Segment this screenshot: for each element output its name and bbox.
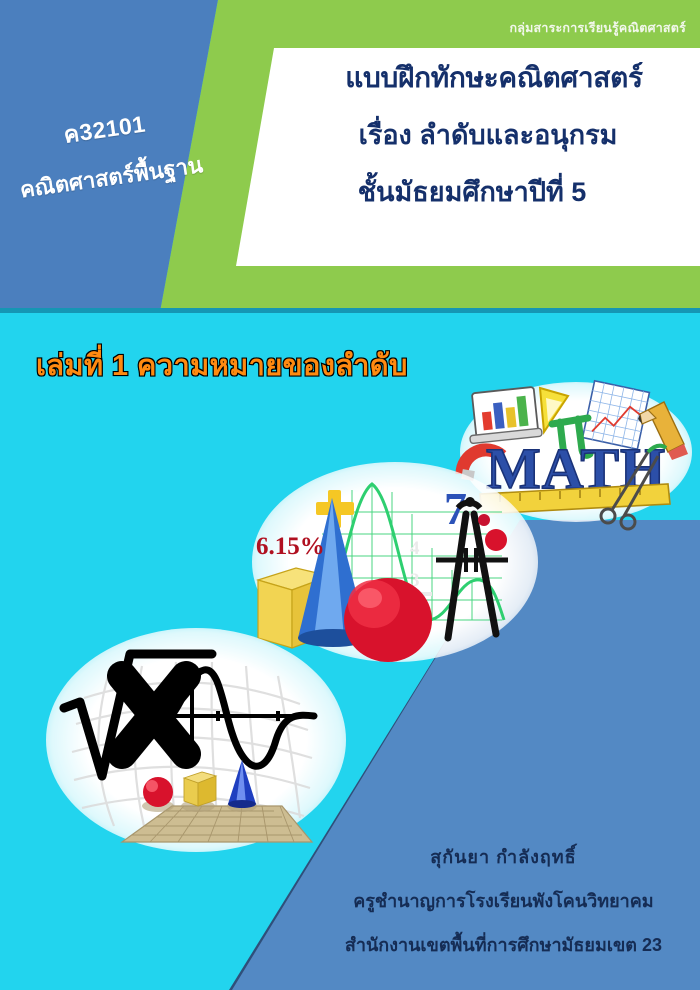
main-title-block: แบบฝึกทักษะคณิตศาสตร์ เรื่อง ลำดับและอนุ… xyxy=(300,52,688,206)
percent-label: 6.15% xyxy=(256,533,325,560)
svg-text:4: 4 xyxy=(410,538,420,559)
title-line-1: แบบฝึกทักษะคณิตศาสตร์ xyxy=(300,64,688,92)
author-block: สุกันยา กำลังฤทธิ์ ครูชำนาญการโรงเรียนพั… xyxy=(345,848,662,954)
author-name: สุกันยา กำลังฤทธิ์ xyxy=(345,848,662,866)
teal-divider-rule xyxy=(0,308,700,313)
title-line-2: เรื่อง ลำดับและอนุกรม xyxy=(288,122,688,149)
department-label: กลุ่มสาระการเรียนรู้คณิตศาสตร์ xyxy=(509,18,686,38)
cube-icon xyxy=(184,772,216,806)
sphere-icon xyxy=(344,578,432,662)
workbook-cover: กลุ่มสาระการเรียนรู้คณิตศาสตร์ ค32101 คณ… xyxy=(0,0,700,990)
author-office: สำนักงานเขตพื้นที่การศึกษามัธยมเขต 23 xyxy=(345,936,662,954)
grid-plane-icon xyxy=(122,760,312,842)
author-role: ครูชำนาญการโรงเรียนพังโคนวิทยาคม xyxy=(345,892,662,910)
sphere-icon xyxy=(143,777,173,807)
title-line-3: ชั้นมัธยมศึกษาปีที่ 5 xyxy=(256,179,688,206)
square-root-illustration xyxy=(46,628,346,852)
